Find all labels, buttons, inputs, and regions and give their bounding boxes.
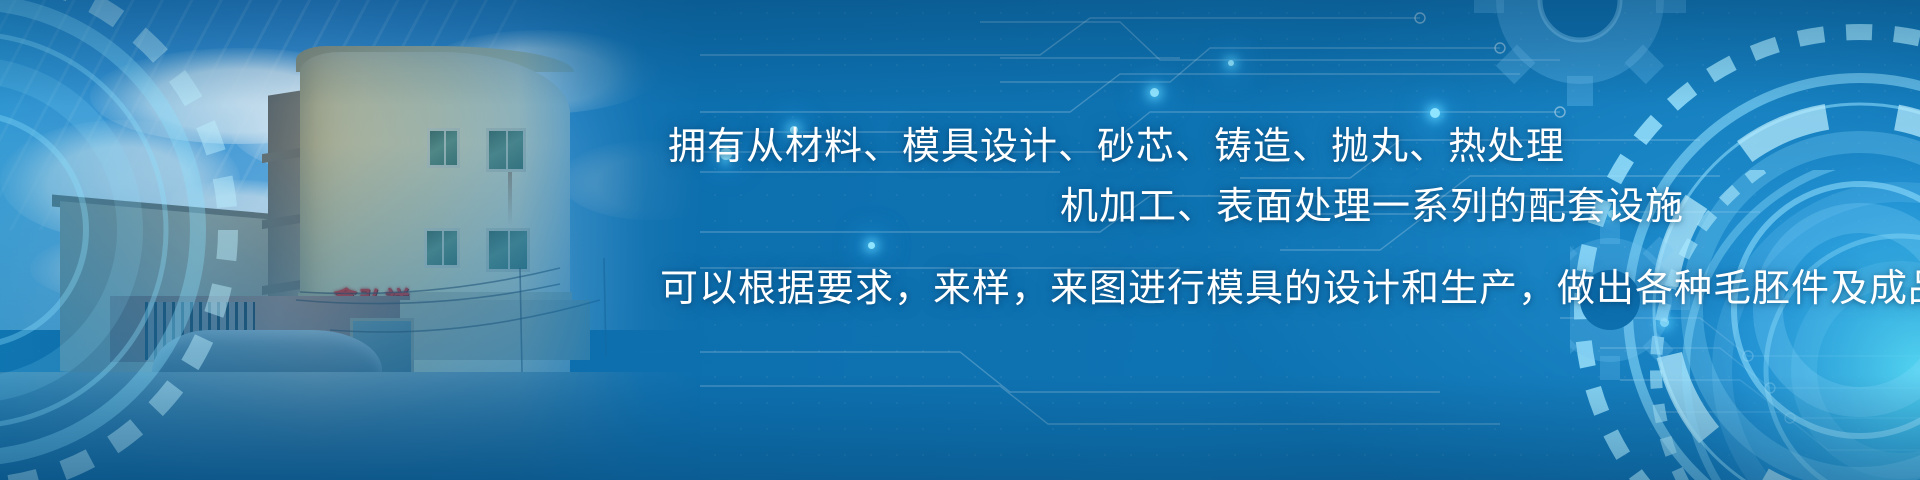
banner-vignette xyxy=(0,0,1920,480)
company-banner: 鑫弘祥 xyxy=(0,0,1920,480)
